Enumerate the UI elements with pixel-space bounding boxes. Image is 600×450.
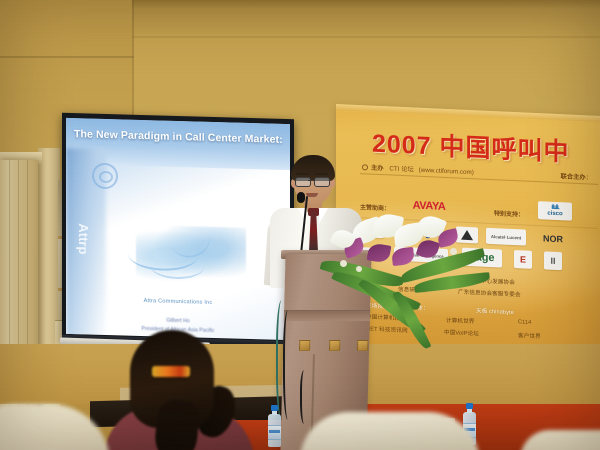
host-name: CTI 论坛 xyxy=(389,165,414,173)
orchid-flower-3 xyxy=(391,247,415,266)
media-partner-7: 客户世界 xyxy=(518,331,541,340)
water-bottle-left xyxy=(268,405,281,447)
bottle-cap xyxy=(271,405,278,411)
orchid-flower-2 xyxy=(367,242,392,264)
bottle-cap-2 xyxy=(466,403,473,409)
foreground-head-center xyxy=(300,412,480,450)
host-url: (www.ctiforum.com) xyxy=(419,167,474,177)
projected-slide: The New Paradigm in Call Center Market: … xyxy=(66,118,290,340)
cohost-value: ： xyxy=(586,174,592,181)
bottle-neck-2 xyxy=(467,409,472,413)
logo-e-mark: E xyxy=(514,250,532,269)
logo-alcatel-lucent: Alcatel·Lucent xyxy=(486,228,526,246)
glasses-lens-left-icon xyxy=(295,177,311,187)
flower-bud-1 xyxy=(340,260,347,267)
bottle-neck xyxy=(272,411,277,415)
hair-clip xyxy=(152,366,190,377)
glasses-bridge-icon xyxy=(308,180,314,181)
audience-woman xyxy=(104,330,244,450)
wall-seam-horizontal-2 xyxy=(132,36,600,38)
conference-photo-scene: The New Paradigm in Call Center Market: … xyxy=(0,0,600,450)
logo-avaya: AVAYA xyxy=(402,197,456,215)
media-partner-4: C114 xyxy=(518,319,531,326)
bottle-label xyxy=(268,425,281,440)
audio-cable-black xyxy=(283,310,295,420)
floral-arrangement xyxy=(326,214,486,349)
audio-cable-black-2 xyxy=(300,370,310,424)
microphone-head-icon xyxy=(297,192,305,203)
flower-bud-2 xyxy=(356,266,362,272)
banner-title: 2007 中国呼叫中 xyxy=(372,124,570,169)
main-sponsor-label: 主赞助商： xyxy=(360,202,390,212)
host-label: 主办 xyxy=(371,165,384,173)
banner-cohost-row: 联合主办： xyxy=(561,171,592,181)
wall-seam-horizontal xyxy=(0,56,134,58)
cohost-label: 联合主办 xyxy=(561,173,586,181)
logo-ii-mark: II xyxy=(544,251,562,270)
slide-logo-icon xyxy=(92,163,118,190)
logo-nor: NOR xyxy=(536,230,570,248)
cisco-wordmark: cisco xyxy=(547,211,562,218)
special-support-label: 特别支持： xyxy=(494,208,524,218)
logo-cisco: ılı.ılı. cisco xyxy=(538,201,572,221)
audience-woman-ponytail xyxy=(153,398,201,450)
speaker-brow-right xyxy=(315,173,328,175)
podium-stud-1 xyxy=(299,340,310,351)
speaker-brow-left xyxy=(296,173,309,175)
glasses-lens-right-icon xyxy=(314,177,330,187)
slide-vertical-text: Attrp xyxy=(70,164,92,315)
projection-screen: The New Paradigm in Call Center Market: … xyxy=(62,113,294,347)
flower-bud-3 xyxy=(450,248,457,255)
